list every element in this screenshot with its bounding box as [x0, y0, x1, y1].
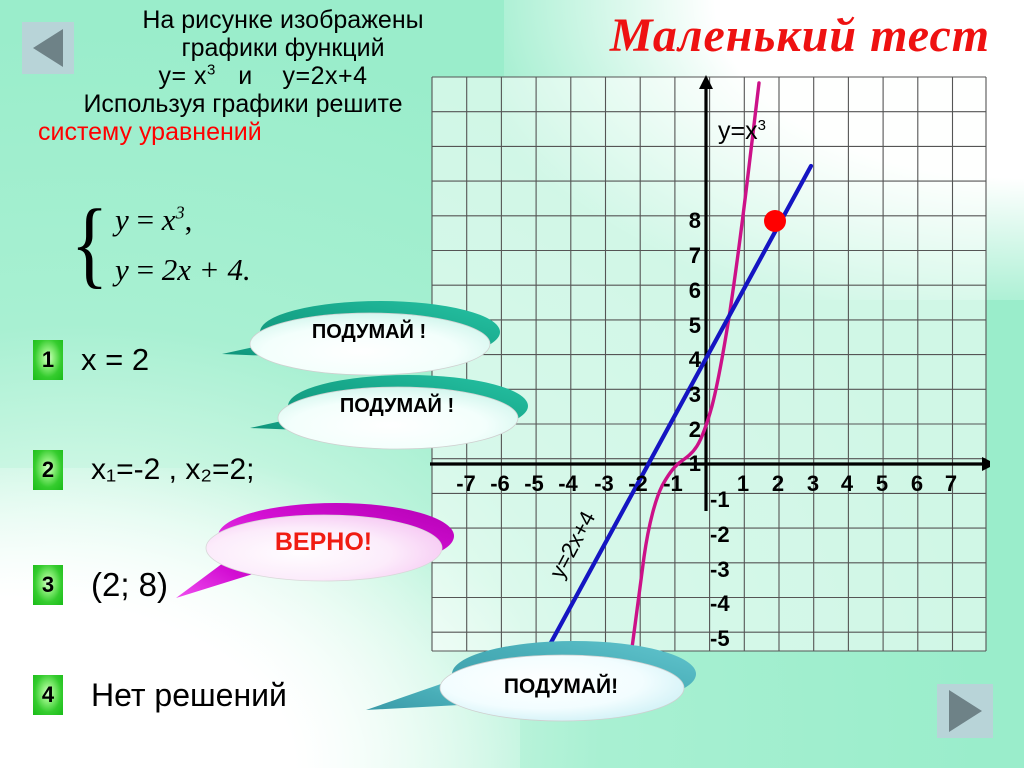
- answer-badge-1: 1: [33, 340, 63, 380]
- eq1-rhs: x: [162, 202, 176, 237]
- prompt-line-2: графики функций: [98, 34, 468, 62]
- svg-text:-4: -4: [710, 591, 730, 616]
- svg-text:-3: -3: [594, 471, 614, 496]
- question-prompt: На рисунке изображены графики функций y=…: [18, 6, 468, 146]
- answer-option-2[interactable]: 2 x₁=-2 , x₂=2;: [33, 450, 255, 490]
- svg-text:4: 4: [841, 471, 854, 496]
- svg-text:-5: -5: [524, 471, 544, 496]
- svg-text:-7: -7: [456, 471, 476, 496]
- svg-text:7: 7: [945, 471, 957, 496]
- svg-text:1: 1: [689, 451, 701, 476]
- answer-option-4[interactable]: 4 Нет решений: [33, 675, 287, 715]
- svg-text:5: 5: [876, 471, 888, 496]
- bubble-2-body: [278, 387, 518, 449]
- eq1-lhs: y: [115, 202, 129, 237]
- answer-label-1: x = 2: [81, 342, 149, 378]
- svg-text:6: 6: [911, 471, 923, 496]
- system-brace: {: [71, 203, 109, 285]
- svg-text:2: 2: [772, 471, 784, 496]
- svg-text:8: 8: [689, 208, 701, 233]
- intersection-point: [764, 210, 786, 232]
- answer-option-3[interactable]: 3 (2; 8): [33, 565, 168, 605]
- bubble-3-svg: [176, 494, 476, 599]
- answer-label-3: (2; 8): [91, 566, 168, 604]
- svg-text:-6: -6: [710, 661, 730, 665]
- prompt-fn1-exponent: 3: [207, 62, 216, 79]
- svg-text:7: 7: [689, 243, 701, 268]
- triangle-right-icon: [949, 690, 982, 732]
- svg-text:4: 4: [689, 347, 702, 372]
- bubble-4-svg: [366, 634, 706, 744]
- bubble-1-body: [250, 313, 490, 375]
- answer-label-2: x₁=-2 , x₂=2;: [91, 453, 255, 487]
- svg-text:1: 1: [737, 471, 749, 496]
- feedback-bubble-2: ПОДУМАЙ !: [250, 370, 550, 468]
- svg-text:6: 6: [689, 278, 701, 303]
- prompt-line-3: y= x3 и y=2x+4: [58, 62, 468, 90]
- equation-2: y = 2x + 4.: [115, 252, 251, 288]
- svg-text:2: 2: [689, 417, 701, 442]
- answer-label-4: Нет решений: [91, 677, 287, 714]
- eq2-rhs: 2x + 4.: [162, 252, 251, 287]
- svg-text:-6: -6: [490, 471, 510, 496]
- svg-text:-3: -3: [710, 557, 730, 582]
- prompt-fn2: y=2x+4: [282, 62, 367, 90]
- prompt-conjunction: и: [238, 62, 252, 90]
- equation-system: { y = x3, y = 2x + 4.: [66, 200, 251, 288]
- svg-text:-2: -2: [628, 471, 648, 496]
- answer-option-1[interactable]: 1 x = 2: [33, 340, 149, 380]
- bubble-2-svg: [250, 370, 550, 468]
- page-title: Маленький тест: [580, 8, 1020, 63]
- svg-text:-2: -2: [710, 522, 730, 547]
- svg-text:5: 5: [689, 313, 701, 338]
- bubble-4-body: [440, 655, 684, 721]
- feedback-bubble-correct: ВЕРНО!: [176, 494, 476, 599]
- svg-text:3: 3: [689, 382, 701, 407]
- feedback-bubble-4: ПОДУМАЙ!: [366, 634, 706, 744]
- answer-badge-4: 4: [33, 675, 63, 715]
- forward-button[interactable]: [937, 684, 993, 738]
- eq1-comma: ,: [185, 202, 193, 237]
- prompt-line-5: систему уравнений: [18, 118, 468, 146]
- prompt-line-1: На рисунке изображены: [98, 6, 468, 34]
- equation-lines: y = x3, y = 2x + 4.: [115, 200, 251, 288]
- svg-text:-1: -1: [663, 471, 683, 496]
- answer-badge-3: 3: [33, 565, 63, 605]
- eq1-exponent: 3: [176, 203, 185, 223]
- answer-badge-2: 2: [33, 450, 63, 490]
- eq1-equals: =: [137, 202, 154, 237]
- svg-text:3: 3: [807, 471, 819, 496]
- prompt-line-4: Используя графики решите: [18, 90, 468, 118]
- prompt-fn1-base: y= x: [158, 62, 207, 90]
- bubble-3-body: [206, 515, 442, 581]
- equation-1: y = x3,: [115, 202, 251, 238]
- eq2-lhs: y: [115, 252, 129, 287]
- svg-text:-5: -5: [710, 626, 730, 651]
- svg-text:-1: -1: [710, 487, 730, 512]
- svg-text:-4: -4: [558, 471, 578, 496]
- eq2-equals: =: [137, 252, 154, 287]
- x-axis-arrow: [982, 457, 990, 471]
- slide-root: y=x3 y=2x+4 -7 -6 -5 -4 -3 -2 -1 1 2 3 4…: [0, 0, 1024, 768]
